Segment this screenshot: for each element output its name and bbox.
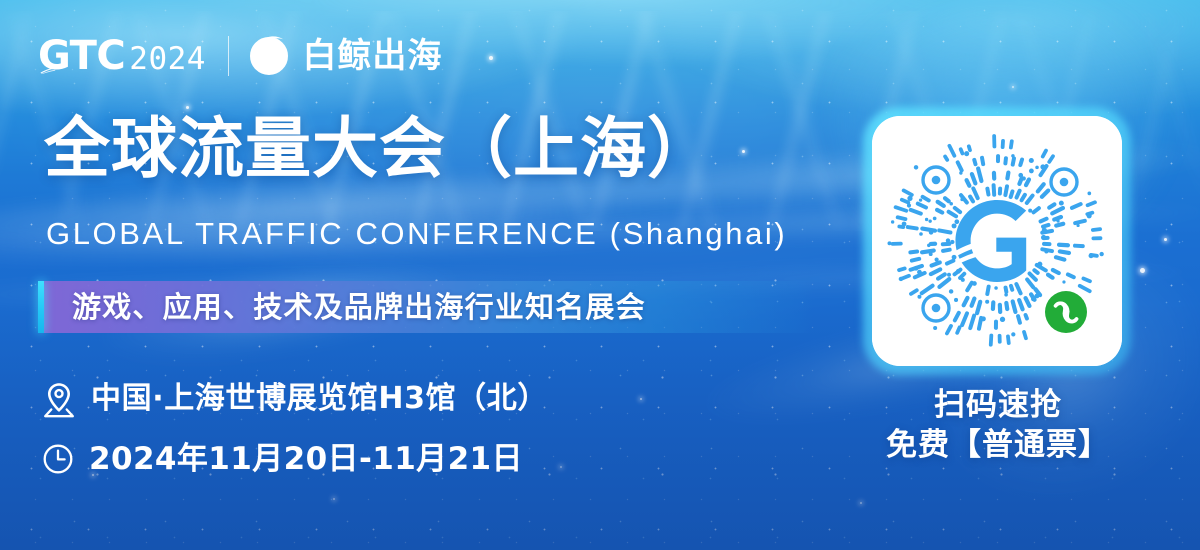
clock-icon: [42, 443, 74, 475]
logo-divider: [228, 36, 230, 76]
tagline-bar-accent-edge: [38, 281, 44, 333]
date-line: 2024年11月20日-11月21日: [42, 443, 523, 475]
wechat-miniprogram-icon: [1041, 287, 1091, 337]
logo-lockup: GTC 2024 白鲸出海: [38, 33, 442, 79]
venue-text: 中国·上海世博展览馆H3馆（北）: [91, 384, 548, 414]
banner-content: GTC 2024 白鲸出海: [0, 0, 1200, 550]
gtc-wordmark: GTC: [38, 36, 125, 76]
event-title-cn: 全球流量大会（上海）: [44, 116, 714, 182]
event-banner: GTC 2024 白鲸出海: [0, 0, 1200, 550]
tagline-bar: 游戏、应用、技术及品牌出海行业知名展会: [38, 281, 813, 333]
wechat-miniprogram-qr-code[interactable]: [872, 116, 1122, 366]
qr-caption-line1: 扫码速抢: [860, 385, 1136, 425]
baijing-wordmark: 白鲸出海: [302, 39, 442, 73]
whale-g-circle-icon: [248, 35, 290, 77]
venue-line: 中国·上海世博展览馆H3馆（北）: [42, 380, 548, 418]
event-title-en: GLOBAL TRAFFIC CONFERENCE (Shanghai): [46, 218, 787, 249]
qr-card-surface: [872, 116, 1122, 366]
location-pin-icon: [42, 380, 76, 418]
tagline-text: 游戏、应用、技术及品牌出海行业知名展会: [72, 293, 646, 322]
gtc-logo: GTC 2024: [38, 36, 206, 76]
qr-caption-line2: 免费【普通票】: [860, 425, 1136, 465]
qr-caption: 扫码速抢 免费【普通票】: [860, 385, 1136, 466]
date-text: 2024年11月20日-11月21日: [89, 444, 523, 475]
qr-code-card[interactable]: [872, 116, 1122, 366]
baijing-logo: 白鲸出海: [248, 35, 442, 77]
gtc-year: 2024: [129, 44, 206, 75]
